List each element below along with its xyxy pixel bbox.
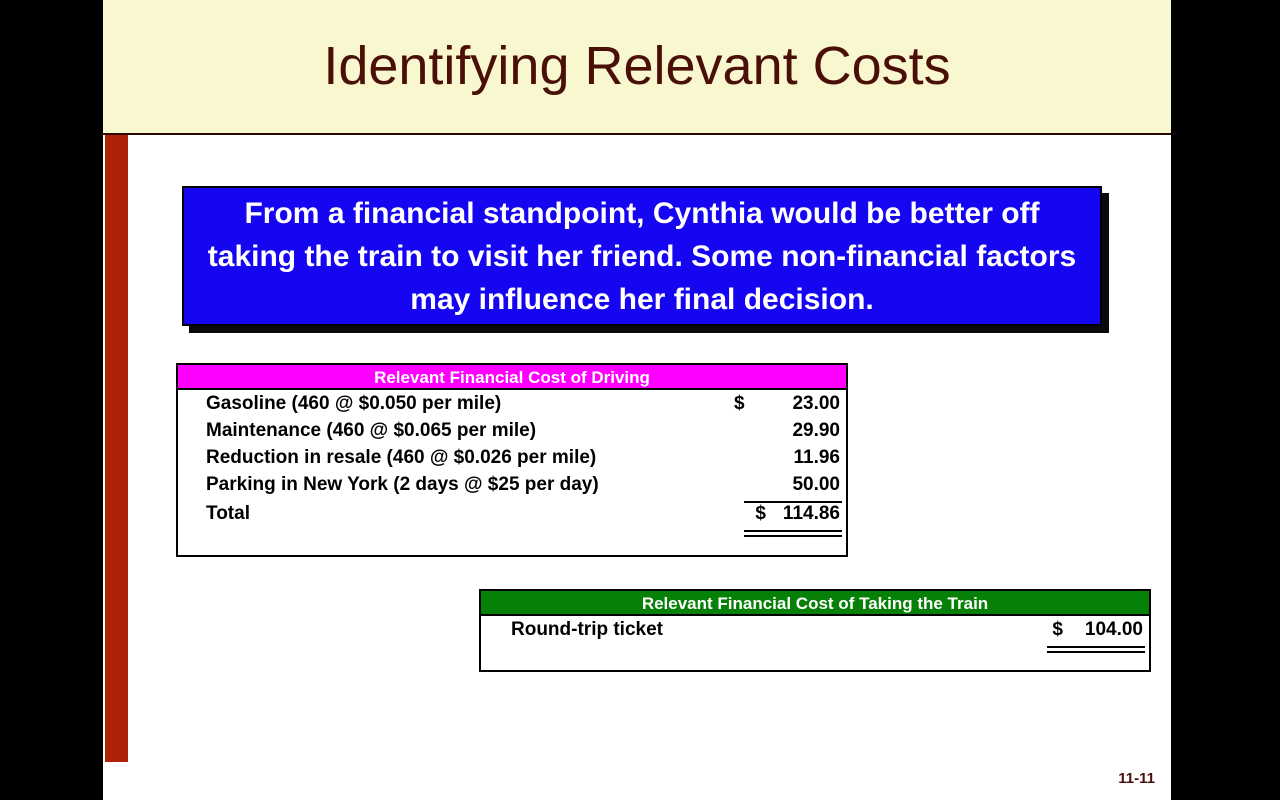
row-amount: 50.00 (768, 474, 846, 496)
title-band: Identifying Relevant Costs (103, 0, 1171, 135)
train-table-header: Relevant Financial Cost of Taking the Tr… (481, 591, 1149, 616)
row-amount: 23.00 (768, 393, 846, 415)
row-currency: $ (734, 393, 768, 415)
row-label: Reduction in resale (460 @ $0.026 per mi… (178, 447, 734, 469)
total-double-rule (1047, 646, 1145, 653)
total-amount: 114.86 (768, 503, 846, 525)
row-currency: $ (1033, 619, 1067, 641)
row-label: Gasoline (460 @ $0.050 per mile) (178, 393, 734, 415)
callout-text: From a financial standpoint, Cynthia wou… (184, 192, 1100, 321)
total-currency: $ (732, 503, 768, 525)
table-row: Reduction in resale (460 @ $0.026 per mi… (178, 447, 846, 474)
train-cost-table: Relevant Financial Cost of Taking the Tr… (479, 589, 1151, 672)
driving-table-header: Relevant Financial Cost of Driving (178, 365, 846, 390)
page-number: 11-11 (1118, 770, 1155, 787)
row-amount: 11.96 (768, 447, 846, 469)
table-row: Round-trip ticket $ 104.00 (481, 619, 1149, 646)
row-amount: 104.00 (1067, 619, 1149, 641)
table-row: Parking in New York (2 days @ $25 per da… (178, 474, 846, 501)
page-title: Identifying Relevant Costs (103, 0, 1171, 133)
train-table-body: Round-trip ticket $ 104.00 (481, 616, 1149, 653)
table-row-total: Total $ 114.86 (178, 503, 846, 530)
total-label: Total (178, 503, 732, 525)
callout-box: From a financial standpoint, Cynthia wou… (182, 186, 1102, 326)
table-row: Gasoline (460 @ $0.050 per mile) $ 23.00 (178, 393, 846, 420)
slide-canvas: Identifying Relevant Costs From a financ… (103, 0, 1171, 800)
driving-cost-table: Relevant Financial Cost of Driving Gasol… (176, 363, 848, 557)
total-double-rule (744, 530, 842, 537)
driving-table-body: Gasoline (460 @ $0.050 per mile) $ 23.00… (178, 390, 846, 537)
left-accent-bar (105, 135, 128, 762)
row-amount: 29.90 (768, 420, 846, 442)
row-label: Round-trip ticket (481, 619, 1033, 641)
table-row: Maintenance (460 @ $0.065 per mile) 29.9… (178, 420, 846, 447)
row-label: Parking in New York (2 days @ $25 per da… (178, 474, 734, 496)
row-label: Maintenance (460 @ $0.065 per mile) (178, 420, 734, 442)
